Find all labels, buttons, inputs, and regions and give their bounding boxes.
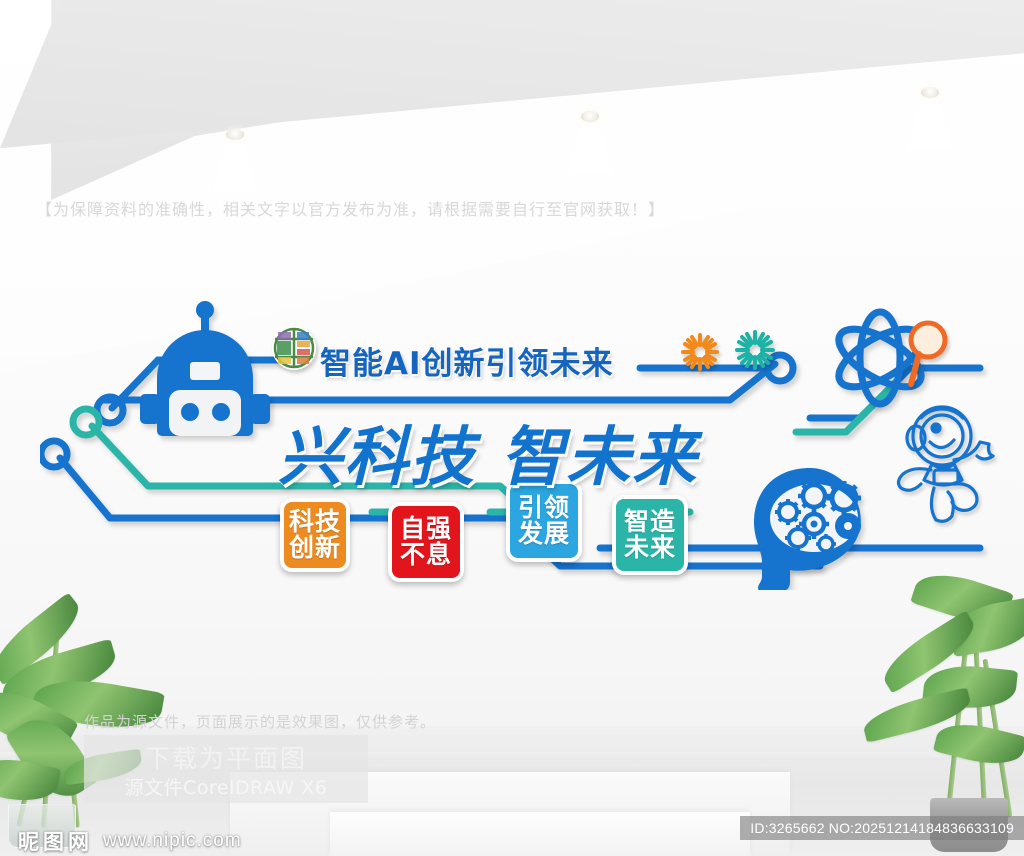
badge-line2: 不息 bbox=[400, 542, 452, 569]
floor-step-upper bbox=[330, 812, 750, 856]
wall-art-subtitle: 智能AI创新引领未来 bbox=[320, 338, 614, 383]
badge-line1: 智造 bbox=[624, 509, 676, 536]
ceiling-spotlight bbox=[921, 87, 939, 98]
download-overlay: 下载为平面图 源文件CorelDRAW X6 bbox=[84, 735, 368, 803]
badge-line1: 科技 bbox=[289, 509, 341, 536]
badge-line2: 发展 bbox=[518, 521, 570, 548]
badge-line1: 引领 bbox=[518, 495, 570, 522]
starburst-teal-icon bbox=[737, 332, 773, 368]
badge-keji-chuangxin: 科技 创新 bbox=[280, 498, 350, 572]
badge-line1: 自强 bbox=[400, 516, 452, 543]
brain-gears-icon bbox=[754, 468, 861, 590]
globe-icon bbox=[272, 326, 316, 370]
watermark: 昵图网 www.nipic.com bbox=[18, 826, 242, 856]
starburst-orange-icon bbox=[683, 335, 717, 369]
plant-right bbox=[855, 548, 1024, 848]
download-label: 下载为平面图 bbox=[84, 739, 368, 775]
source-file-label: 源文件CorelDRAW X6 bbox=[84, 773, 368, 800]
badge-line2: 未来 bbox=[624, 535, 676, 562]
accuracy-notice: 【为保障资料的准确性，相关文字以官方发布为准，请根据需要自行至官网获取！】 bbox=[36, 196, 665, 220]
wall-art-headline: 兴科技 智未来 bbox=[278, 406, 698, 498]
scene-root: 科技 创新 自强 不息 引领 发展 智造 未来 智能AI创新引领未来 兴科技 智… bbox=[0, 0, 1024, 856]
ceiling-spotlight bbox=[226, 129, 244, 140]
badge-ziqiang-buxi: 自强 不息 bbox=[388, 502, 464, 582]
ceiling-spotlight bbox=[581, 111, 599, 122]
watermark-site-name: 昵图网 bbox=[18, 826, 93, 856]
badge-zhizao-weilai: 智造 未来 bbox=[612, 495, 688, 575]
magnifier-icon bbox=[911, 323, 945, 384]
robot-head-icon bbox=[140, 301, 270, 436]
source-footnote: 作品为源文件，页面展示的是效果图，仅供参考。 bbox=[84, 711, 436, 732]
badge-line2: 创新 bbox=[289, 535, 341, 562]
image-id-bar: ID:3265662 NO:20251214184836633109 bbox=[740, 816, 1024, 840]
watermark-url: www.nipic.com bbox=[103, 830, 242, 852]
astronaut-icon bbox=[898, 407, 993, 521]
